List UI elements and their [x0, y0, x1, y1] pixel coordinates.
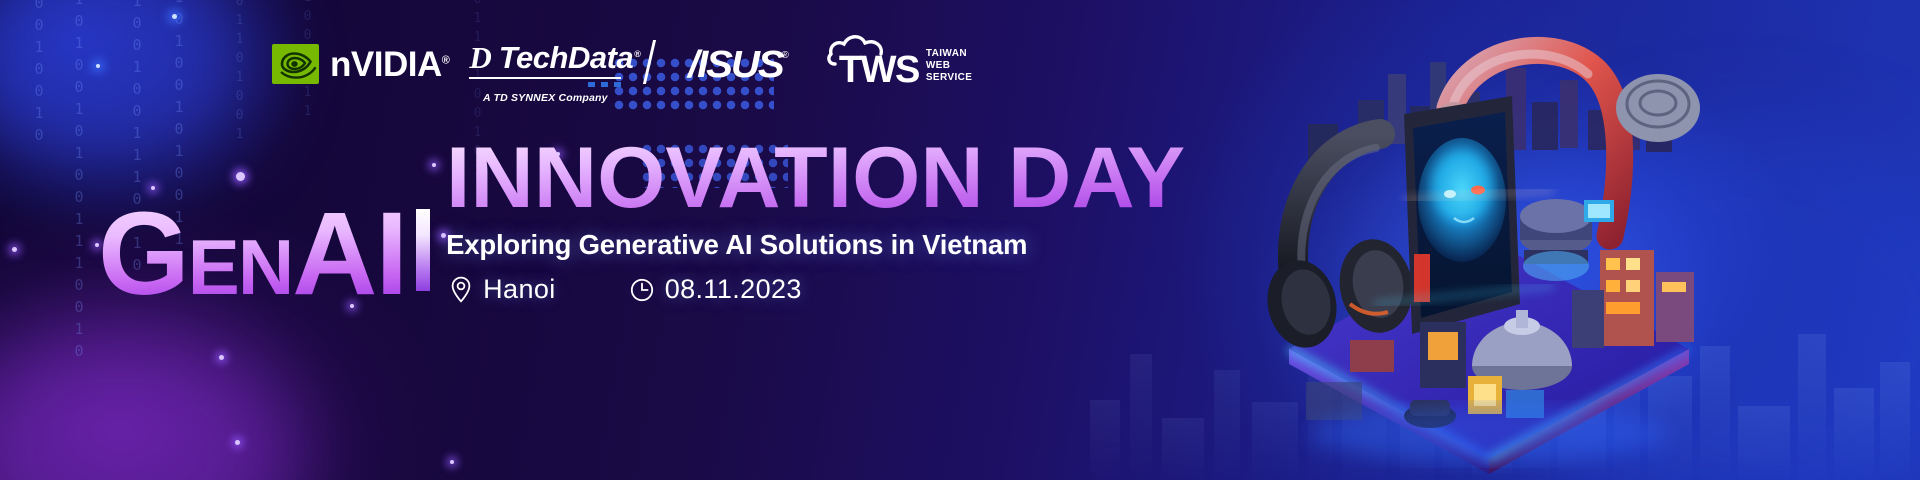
spark-particle	[96, 64, 100, 68]
registered-mark: ®	[442, 54, 450, 66]
ai-city-illustration	[1254, 4, 1724, 474]
event-location: Hanoi	[450, 274, 556, 305]
location-pin-icon	[450, 276, 472, 303]
event-location-label: Hanoi	[483, 274, 556, 305]
spark-particle	[450, 460, 454, 464]
partner-logo-row: nVIDIA® D TechData® A TD SYNNEX Company …	[272, 34, 972, 104]
headline-main: INNOVATION DAY	[446, 140, 1185, 217]
logo-tws[interactable]: TWS TAIWAN WEB SERVICE	[825, 34, 972, 87]
logo-tech-data[interactable]: D TechData® A TD SYNNEX Company	[469, 34, 640, 104]
event-meta-row: Hanoi 08.11.2023	[446, 274, 1171, 305]
binary-stream: 10100101001110010	[70, 0, 88, 364]
glow-blob-left-bottom	[0, 330, 300, 480]
headline-block: GENAI INNOVATION DAY Exploring Generativ…	[98, 140, 1171, 305]
tech-data-rule	[469, 77, 621, 79]
cloud-icon	[827, 32, 899, 71]
tws-subtext-line: SERVICE	[926, 72, 973, 84]
binary-stream: 01101001	[232, 0, 247, 146]
event-date-label: 08.11.2023	[665, 274, 802, 305]
event-banner: 0010010 10100101001110010 1001001110010 …	[0, 0, 1920, 480]
asus-wordmark: /ISUS	[688, 46, 783, 84]
banner-subtitle: Exploring Generative AI Solutions in Vie…	[446, 229, 1171, 261]
tech-data-squares	[469, 82, 621, 87]
headline-genai: GENAI	[98, 204, 406, 305]
spark-particle	[235, 440, 240, 445]
spark-particle	[219, 355, 224, 360]
nvidia-wordmark: nVIDIA®	[330, 47, 449, 82]
tech-data-monogram: D	[469, 42, 491, 73]
tech-data-wordmark: TechData®	[499, 42, 641, 73]
logo-asus[interactable]: /ISUS ®	[688, 34, 789, 84]
tws-subtext-line: TAIWAN	[926, 48, 973, 60]
registered-mark: ®	[782, 50, 789, 61]
spark-particle	[12, 247, 17, 252]
spark-particle	[172, 14, 177, 19]
clock-icon	[630, 278, 654, 302]
logo-nvidia[interactable]: nVIDIA®	[272, 34, 449, 84]
tws-subtext: TAIWAN WEB SERVICE	[926, 48, 973, 87]
nvidia-eye-icon	[272, 44, 319, 84]
binary-stream: 0010010	[30, 0, 48, 148]
registered-mark: ®	[634, 49, 640, 59]
tech-data-tagline: A TD SYNNEX Company	[469, 92, 621, 104]
event-date: 08.11.2023	[630, 274, 802, 305]
tws-subtext-line: WEB	[926, 60, 973, 72]
tech-data-slash	[643, 40, 656, 84]
headline-divider	[416, 209, 430, 291]
